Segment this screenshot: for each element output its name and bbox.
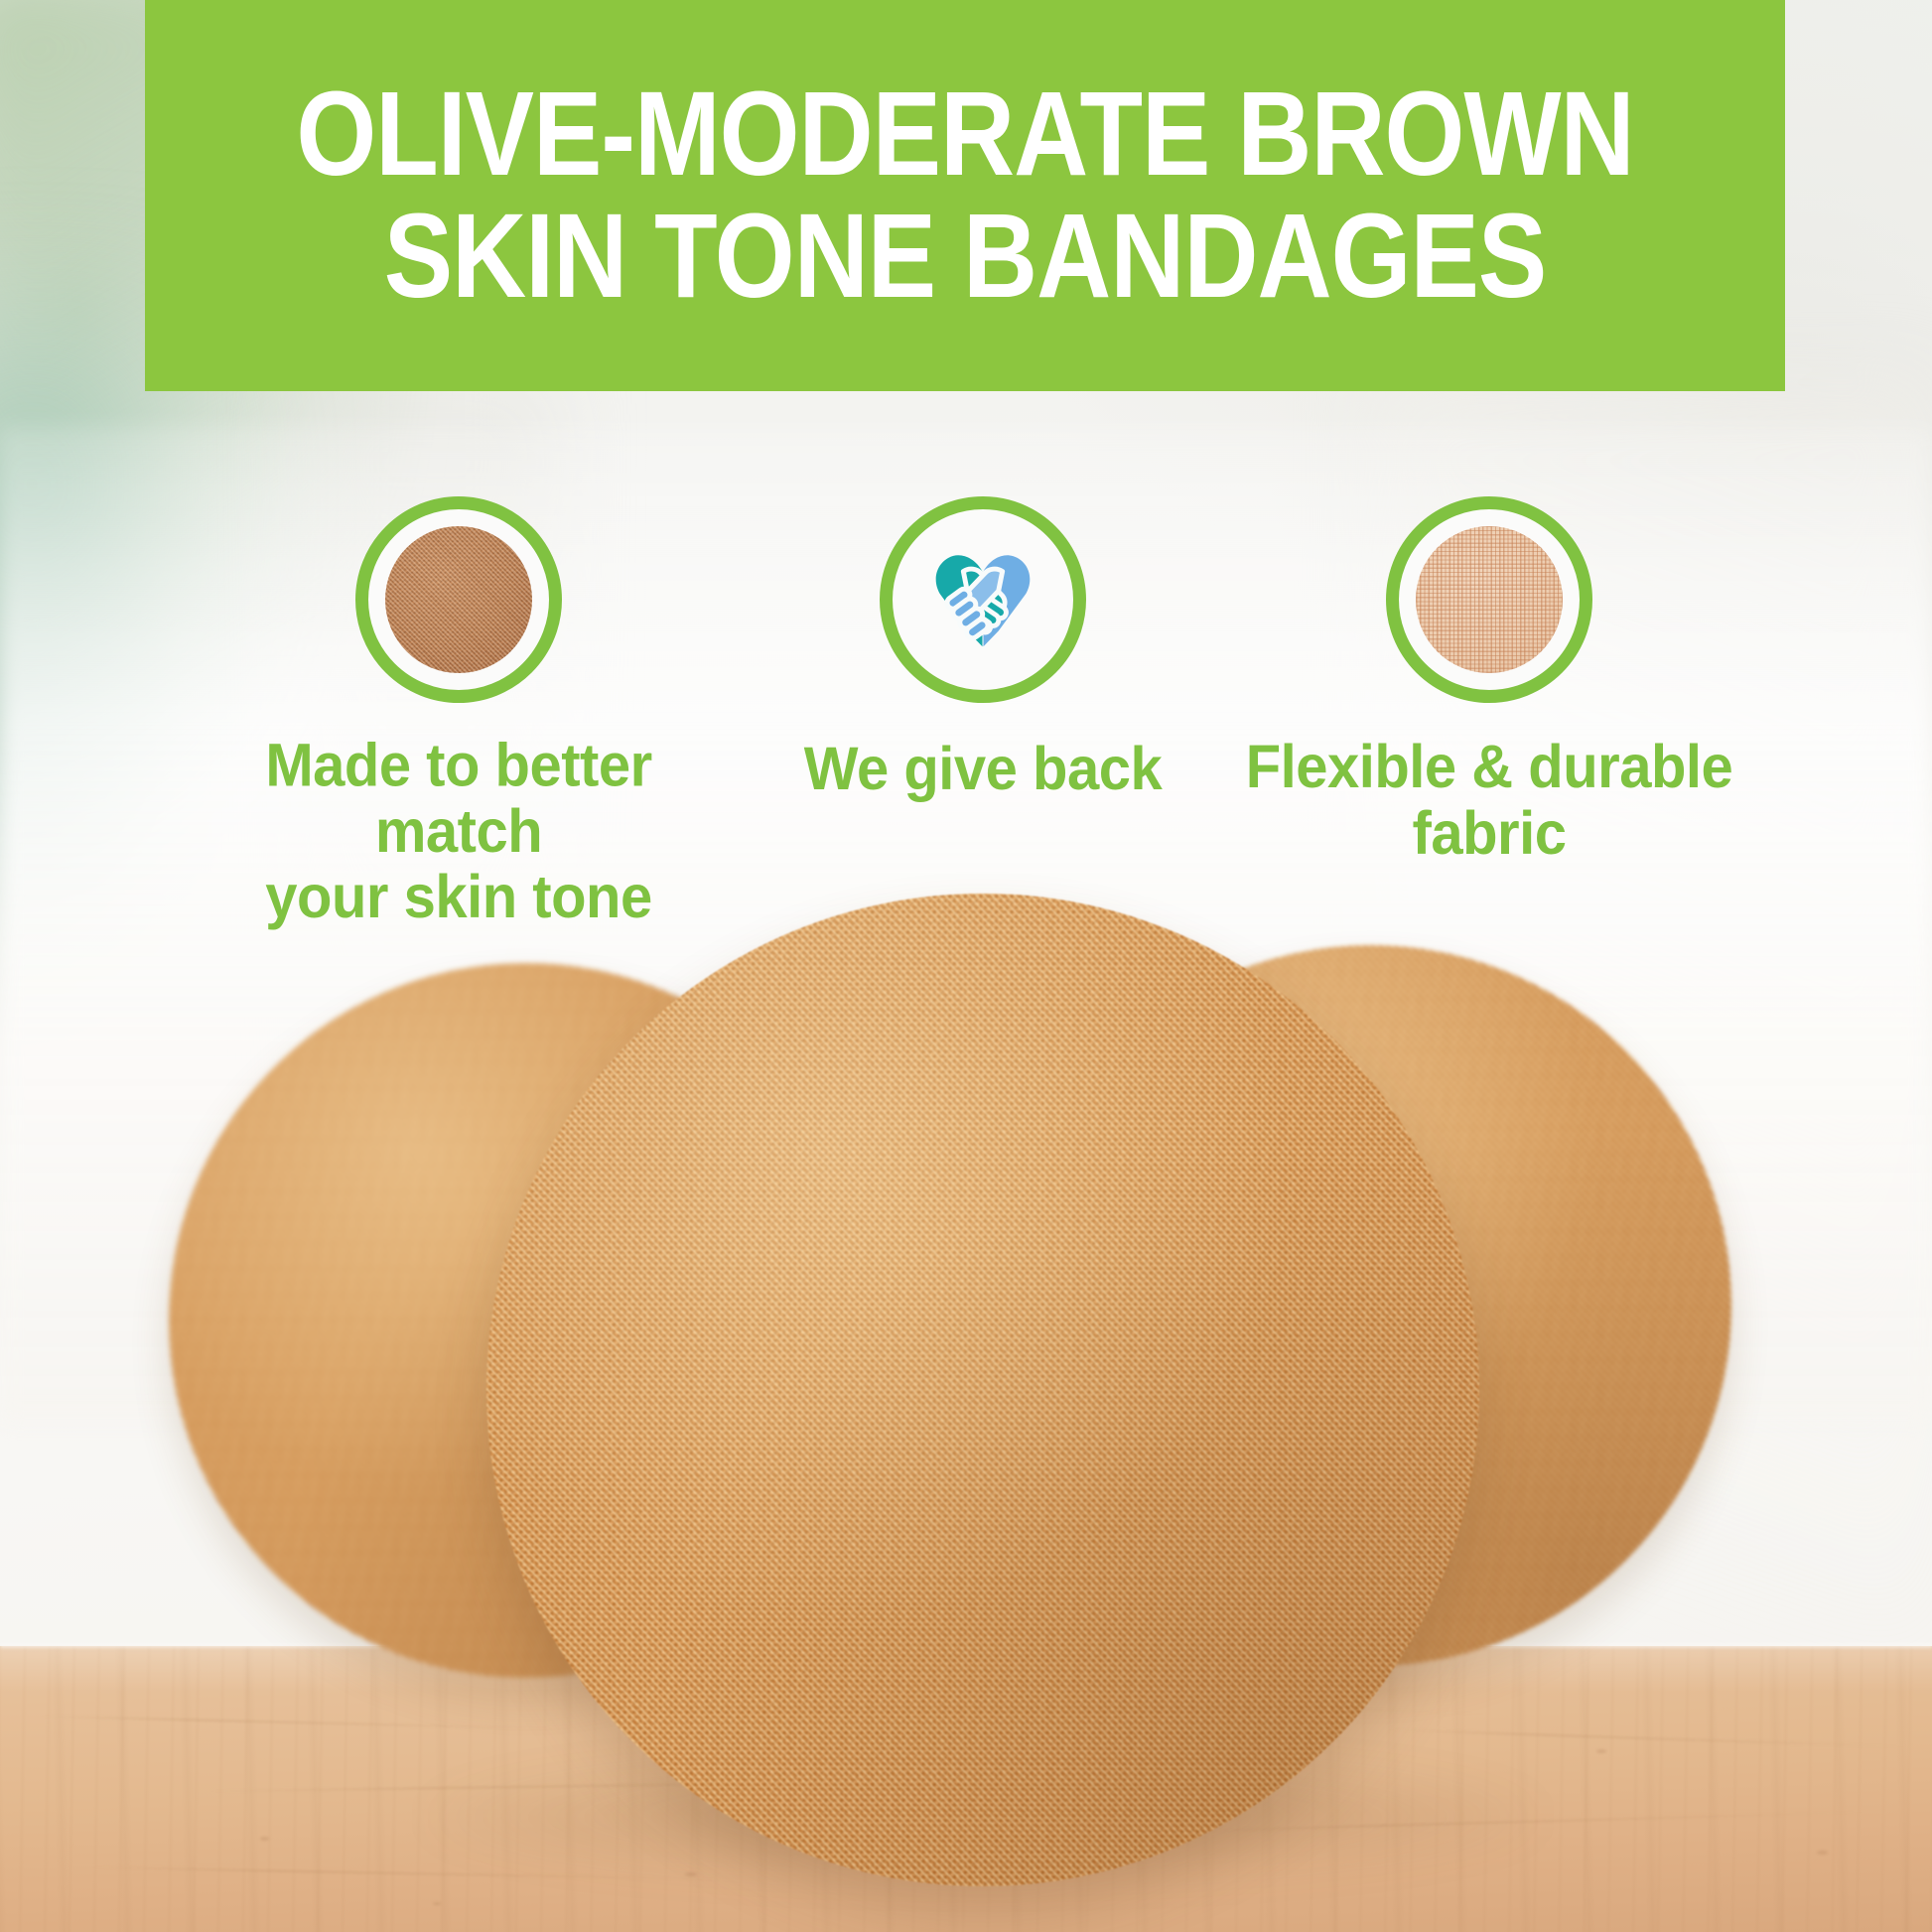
feature-caption-skin-tone-line2: your skin tone	[265, 863, 651, 931]
feature-row: Made to better match your skin tone	[145, 496, 1785, 925]
skin-tone-swatch-icon	[385, 526, 532, 673]
product-marketing-image: OLIVE-MODERATE BROWN SKIN TONE BANDAGES …	[0, 0, 1932, 1932]
feature-caption-fabric-line2: fabric	[1413, 799, 1567, 868]
page-title: OLIVE-MODERATE BROWN SKIN TONE BANDAGES	[256, 73, 1673, 318]
feature-flexible-fabric: Flexible & durable fabric	[1241, 496, 1737, 863]
woven-fabric-swatch-icon	[1416, 526, 1563, 673]
feature-caption-skin-tone: Made to better match your skin tone	[210, 733, 707, 930]
feature-we-give-back: We give back	[735, 496, 1231, 801]
feature-caption-give-back-line1: We give back	[804, 735, 1162, 803]
round-bandage-center	[486, 894, 1479, 1886]
heart-handshake-icon	[909, 526, 1056, 673]
title-line-2: SKIN TONE BANDAGES	[296, 196, 1633, 318]
feature-caption-fabric-line1: Flexible & durable	[1246, 733, 1733, 801]
title-line-1: OLIVE-MODERATE BROWN	[296, 73, 1633, 196]
feature-skin-tone-match: Made to better match your skin tone	[210, 496, 707, 925]
icon-ring-skin-tone	[355, 496, 562, 703]
icon-ring-fabric	[1386, 496, 1592, 703]
feature-caption-give-back: We give back	[804, 737, 1162, 802]
feature-caption-skin-tone-line1: Made to better match	[265, 731, 651, 865]
icon-ring-give-back	[880, 496, 1086, 703]
title-banner: OLIVE-MODERATE BROWN SKIN TONE BANDAGES	[145, 0, 1785, 391]
feature-caption-fabric: Flexible & durable fabric	[1246, 735, 1733, 867]
